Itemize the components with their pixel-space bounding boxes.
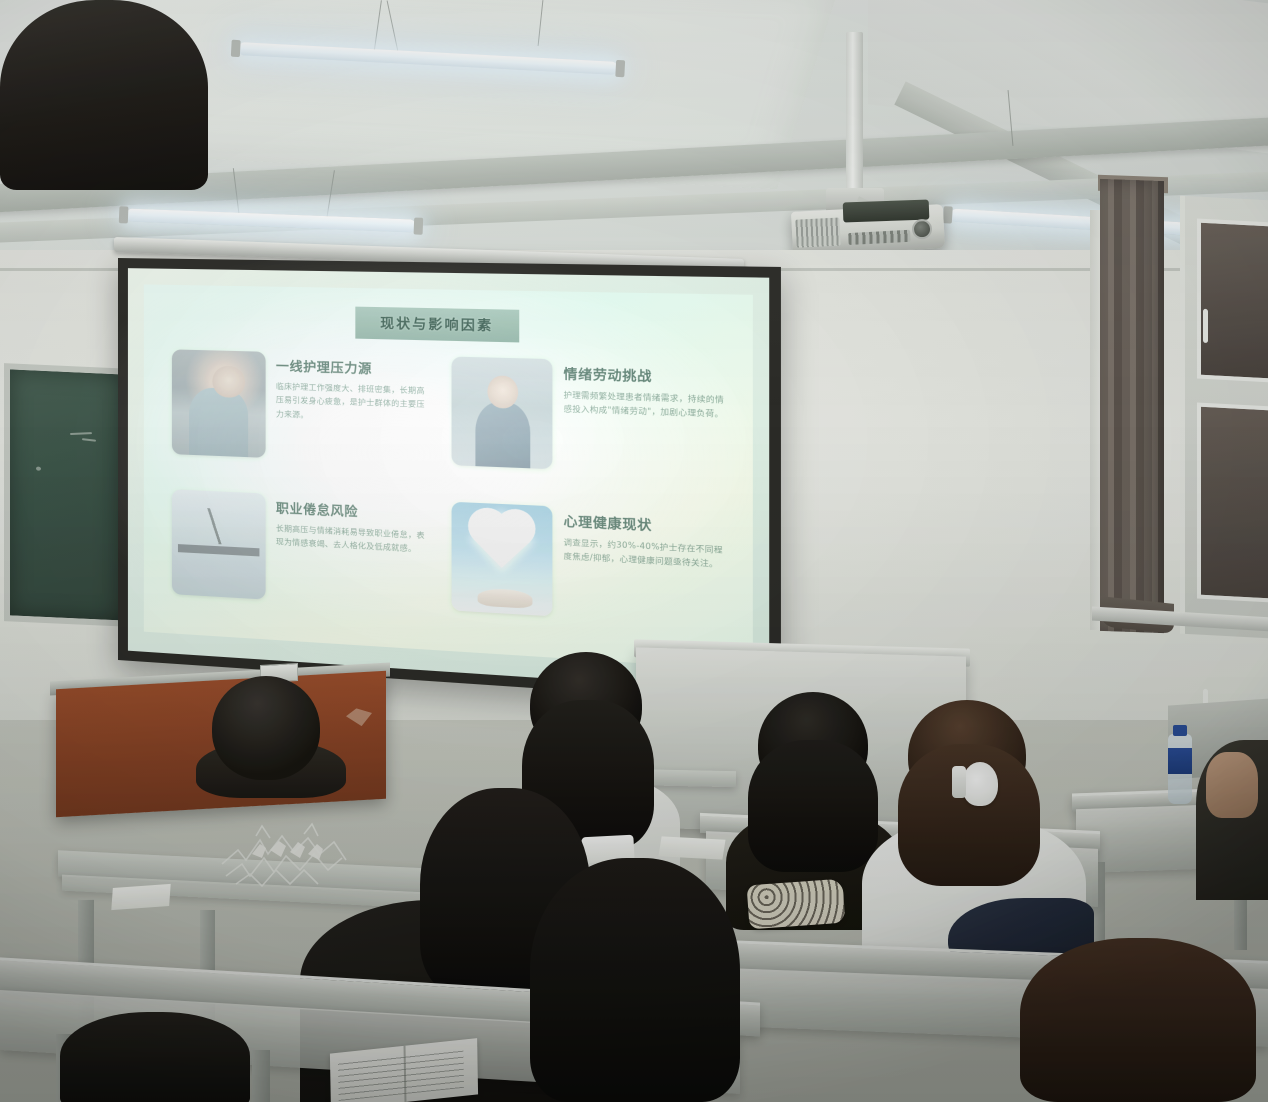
card-body-text: 调查显示，约30%-40%护士存在不同程度焦虑/抑郁，心理健康问题亟待关注。 (564, 535, 732, 572)
water-bottle[interactable] (1168, 734, 1192, 804)
projection-screen-surface: 现状与影响因素 一线护理压力源 临床护理工作强度大、排班密集，长期高压易引发身心… (128, 268, 769, 693)
long-hair (530, 858, 740, 1102)
projector-ports (848, 230, 911, 245)
student-hoodie (0, 0, 208, 190)
arm (1206, 752, 1258, 818)
window-pane-upper (1197, 218, 1268, 382)
head (212, 676, 320, 780)
bottle-cap (1173, 725, 1187, 736)
notebook-text-lines (338, 1048, 464, 1101)
slide-card-burnout-risk: 职业倦怠风险 长期高压与情绪消耗易导致职业倦怠，表现为情感衰竭、去人格化及低成就… (172, 489, 432, 631)
patient-care-photo-icon (172, 349, 266, 457)
card-heading: 情绪劳动挑战 (564, 363, 732, 388)
podium-scuff (346, 708, 372, 727)
card-text-block: 职业倦怠风险 长期高压与情绪消耗易导致职业倦怠，表现为情感衰竭、去人格化及低成就… (276, 494, 432, 557)
card-text-block: 情绪劳动挑战 护理需频繁处理患者情绪需求，持续的情感投入构成"情绪劳动"，加剧心… (564, 359, 732, 421)
slide-card-emotional-labor: 情绪劳动挑战 护理需频繁处理患者情绪需求，持续的情感投入构成"情绪劳动"，加剧心… (452, 357, 732, 499)
black-hoodie (0, 0, 208, 190)
projector-vent-icon (795, 217, 840, 247)
hair-clip-icon (962, 762, 998, 806)
slide-card-mental-health: 心理健康现状 调查显示，约30%-40%护士存在不同程度焦虑/抑郁，心理健康问题… (452, 502, 732, 650)
cloud-heart-photo-icon (452, 502, 553, 617)
loose-paper (658, 836, 725, 859)
slide-card-grid: 一线护理压力源 临床护理工作强度大、排班密集，长期高压易引发身心疲惫，是护士群体… (172, 349, 732, 649)
window-pane-lower (1197, 402, 1268, 602)
chart-trend-line-icon (179, 506, 258, 546)
loose-paper (111, 884, 170, 910)
pencil-pouch[interactable] (747, 879, 846, 930)
long-hair (748, 740, 878, 872)
chalkboard-left (4, 363, 132, 627)
presentation-slide: 现状与影响因素 一线护理压力源 临床护理工作强度大、排班密集，长期高压易引发身心… (144, 284, 753, 670)
window-handle[interactable] (1203, 309, 1208, 343)
nurse-portrait-photo-icon (452, 357, 553, 470)
card-text-block: 心理健康现状 调查显示，约30%-40%护士存在不同程度焦虑/抑郁，心理健康问题… (564, 507, 732, 572)
hair (60, 1012, 250, 1102)
card-text-block: 一线护理压力源 临床护理工作强度大、排班密集，长期高压易引发身心疲惫，是护士群体… (276, 352, 432, 426)
card-heading: 职业倦怠风险 (276, 497, 432, 524)
bottle-label (1168, 748, 1192, 774)
projector-mount-pole (846, 32, 863, 194)
card-body-text: 长期高压与情绪消耗易导致职业倦怠，表现为情感衰竭、去人格化及低成就感。 (276, 522, 432, 557)
ceiling-projector (791, 204, 945, 256)
window-curtain[interactable] (1100, 179, 1164, 633)
classroom-scene: 现状与影响因素 一线护理压力源 临床护理工作强度大、排班密集，长期高压易引发身心… (0, 0, 1268, 1102)
card-body-text: 护理需频繁处理患者情绪需求，持续的情感投入构成"情绪劳动"，加剧心理负荷。 (564, 388, 732, 422)
desk-leg (252, 1050, 270, 1102)
heart-icon (474, 514, 530, 568)
slide-title: 现状与影响因素 (380, 316, 493, 334)
card-body-text: 临床护理工作强度大、排班密集，长期高压易引发身心疲惫，是护士群体的主要压力来源。 (276, 380, 432, 426)
projection-screen: 现状与影响因素 一线护理压力源 临床护理工作强度大、排班密集，长期高压易引发身心… (118, 258, 781, 705)
open-hand-icon (478, 588, 532, 609)
hoodie-graphic-print-icon (216, 820, 352, 898)
projector-top-shell (843, 200, 930, 223)
card-heading: 一线护理压力源 (276, 355, 432, 379)
slide-title-banner: 现状与影响因素 (355, 307, 519, 343)
hair (1020, 938, 1256, 1102)
data-chart-photo-icon (172, 489, 266, 599)
slide-card-frontline-stress: 一线护理压力源 临床护理工作强度大、排班密集，长期高压易引发身心疲惫，是护士群体… (172, 349, 432, 486)
right-window (1180, 196, 1268, 639)
projector-lens-icon (912, 219, 933, 240)
card-heading: 心理健康现状 (564, 510, 732, 538)
